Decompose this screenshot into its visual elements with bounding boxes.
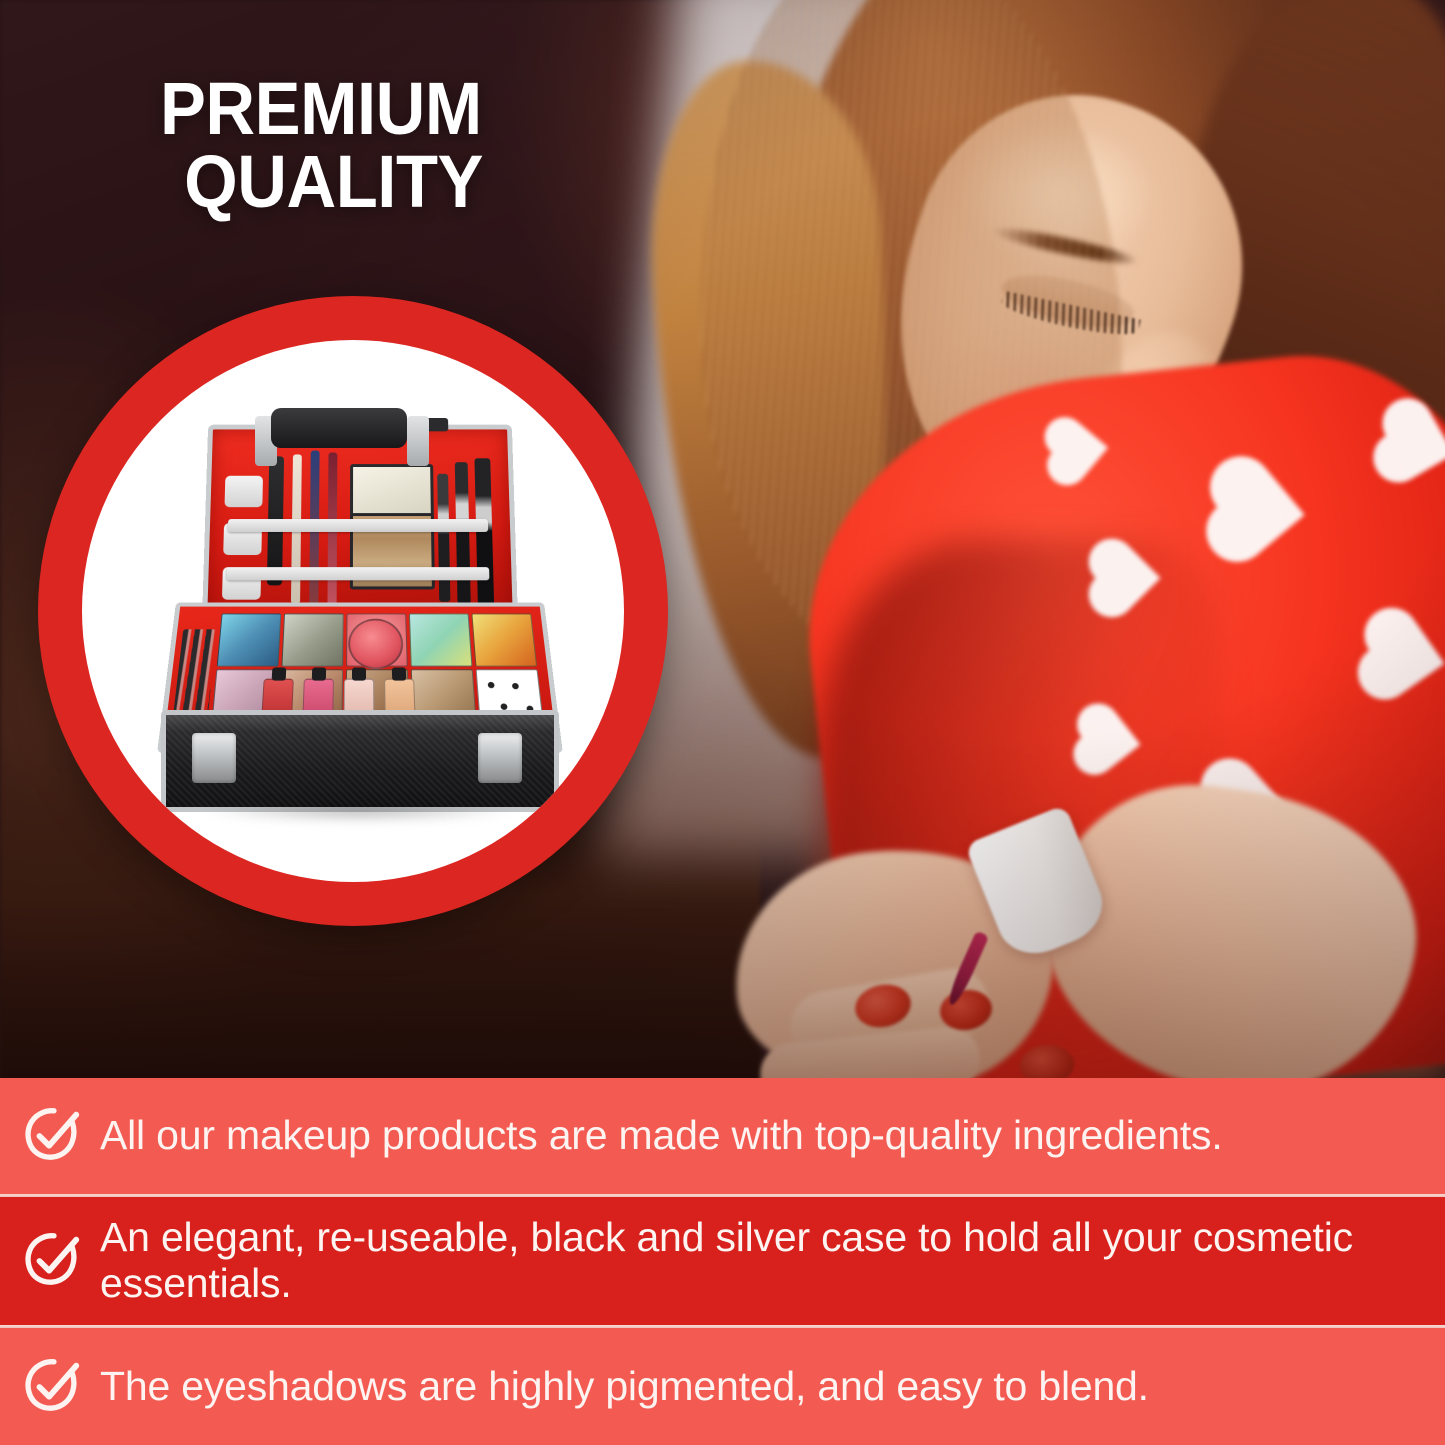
makeup-case-illustration [143,422,563,822]
makeup-brush [455,462,471,604]
check-circle-icon [22,1105,84,1167]
eyeshadow-pan [281,613,343,666]
compact-mirror [350,464,434,517]
case-handle [271,408,407,448]
makeup-brush [437,474,450,602]
page-title: PREMIUM QUALITY [160,72,644,219]
feature-bar-1: All our makeup products are made with to… [0,1078,1445,1194]
case-drop-shadow [203,800,513,822]
eyeshadow-pan [471,613,537,666]
feature-text: The eyeshadows are highly pigmented, and… [100,1364,1149,1410]
feature-bar-2: An elegant, re-useable, black and silver… [0,1197,1445,1325]
feature-text: An elegant, re-useable, black and silver… [100,1215,1445,1307]
case-latch [478,733,522,783]
check-circle-icon [22,1356,84,1418]
elastic-strap [228,519,488,532]
feature-bar-3: The eyeshadows are highly pigmented, and… [0,1328,1445,1445]
eyeshadow-pan [217,613,281,666]
blush-compact [348,619,404,670]
case-lid [202,424,519,629]
case-outer-shell [161,710,559,812]
feature-list: All our makeup products are made with to… [0,1078,1445,1445]
headline-line-2: QUALITY [160,145,644,218]
elastic-strap [227,567,490,580]
product-marketing-image: PREMIUM QUALITY [0,0,1445,1445]
headline-line-1: PREMIUM [160,67,482,150]
lid-holder [224,476,262,507]
feature-text: All our makeup products are made with to… [100,1113,1223,1159]
check-circle-icon [22,1230,84,1292]
eyeshadow-pan [409,613,472,666]
case-latch [192,733,236,783]
product-inset-photo [82,340,624,882]
product-inset-ring [38,296,668,926]
handle-arm [407,416,429,466]
